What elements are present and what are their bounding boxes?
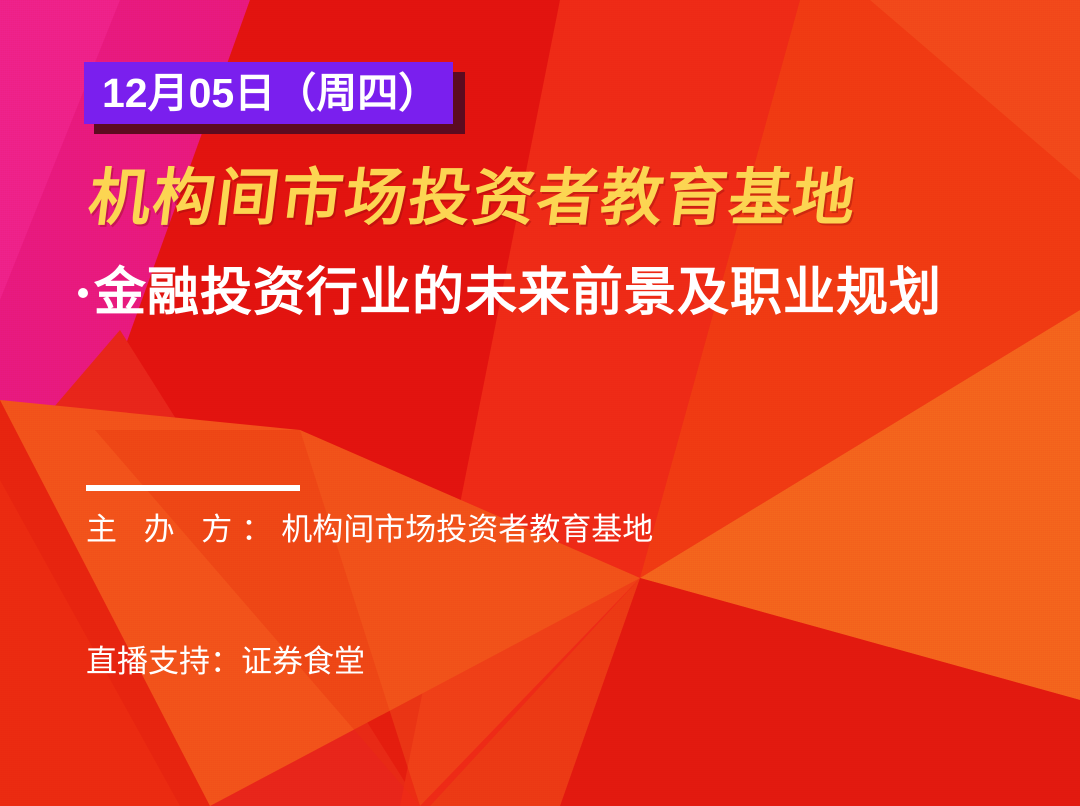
organizer-label: 主 办 方： [86, 512, 281, 547]
page-title: 机构间市场投资者教育基地 [84, 160, 862, 238]
subtitle-label: 金融投资行业的未来前景及职业规划 [94, 262, 942, 324]
date-badge-label: 12月05日（周四） [84, 62, 453, 124]
bullet-dot-icon [78, 288, 88, 298]
poster-content: 12月05日（周四） 机构间市场投资者教育基地 金融投资行业的未来前景及职业规划… [0, 0, 1080, 806]
poster-canvas: 12月05日（周四） 机构间市场投资者教育基地 金融投资行业的未来前景及职业规划… [0, 0, 1080, 806]
organizer-line: 主 办 方：机构间市场投资者教育基地 [86, 508, 653, 552]
broadcast-support-line: 直播支持：证券食堂 [86, 640, 365, 684]
organizer-value: 机构间市场投资者教育基地 [281, 512, 653, 547]
date-badge: 12月05日（周四） [84, 62, 453, 124]
subtitle: 金融投资行业的未来前景及职业规划 [78, 262, 942, 324]
divider-rule [86, 485, 300, 491]
